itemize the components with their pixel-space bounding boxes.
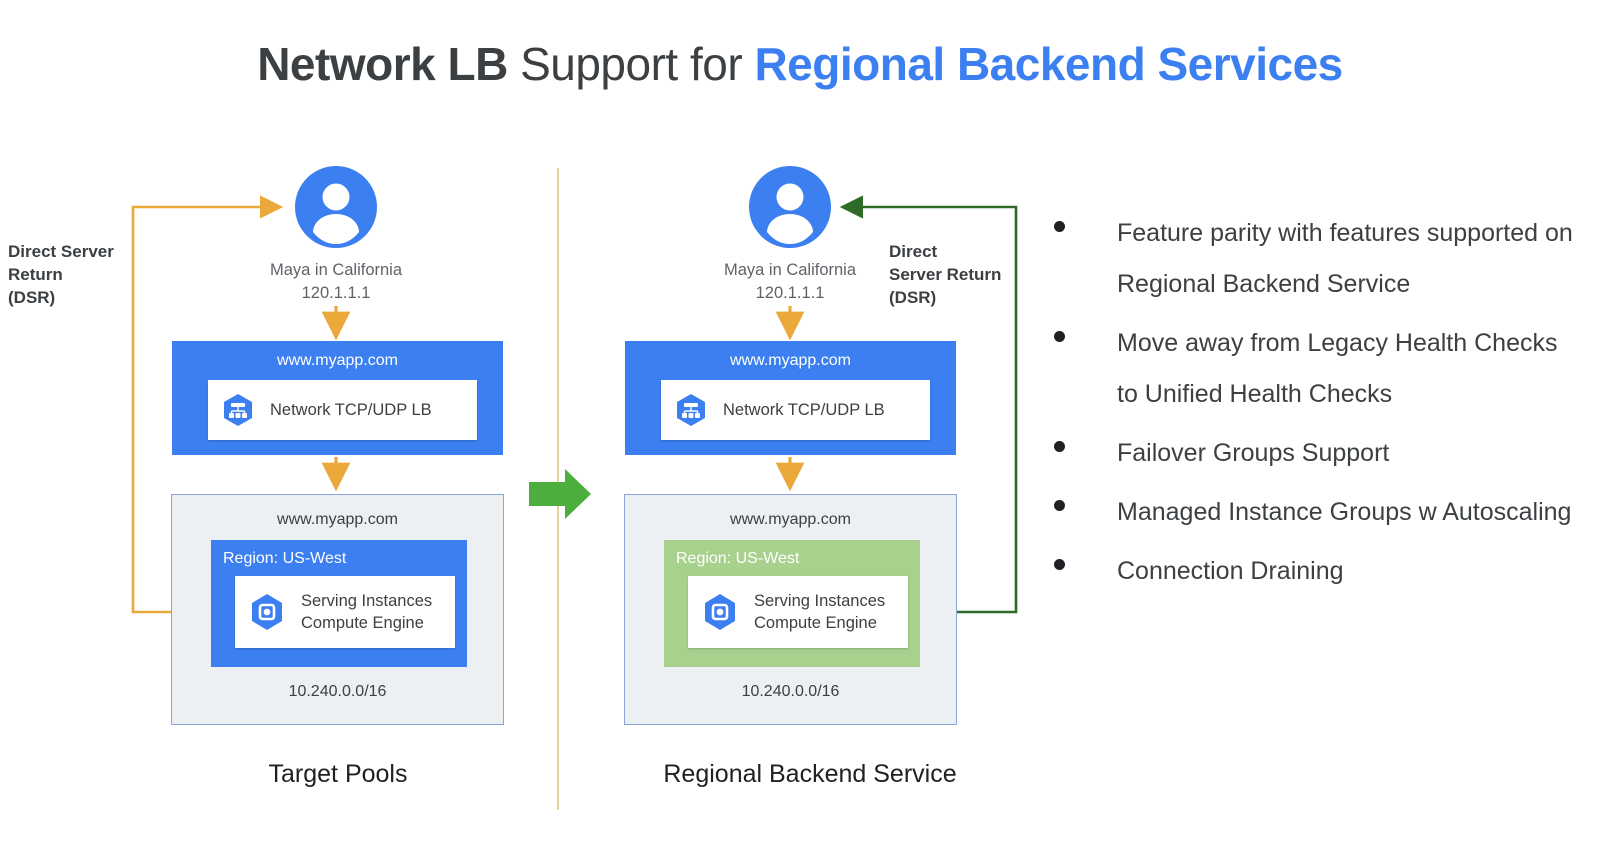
bullet-text: Connection Draining xyxy=(1117,546,1344,597)
right-instance-line-1: Serving Instances xyxy=(754,590,885,612)
right-user-to-lb-arrow xyxy=(774,306,808,344)
bullet-dot-icon xyxy=(1054,500,1065,511)
list-item: Connection Draining xyxy=(1040,546,1580,597)
right-lb-to-network-arrow xyxy=(774,457,808,495)
right-user-name: Maya in California xyxy=(640,259,940,282)
right-load-balancer-box[interactable]: www.myapp.com Network TCP/UDP LB xyxy=(625,341,956,455)
bullet-dot-icon xyxy=(1054,221,1065,232)
list-item: Failover Groups Support xyxy=(1040,428,1580,479)
right-region-box[interactable]: Region: US-West Serving Instances Comput… xyxy=(664,540,920,667)
network-load-balancer-icon xyxy=(671,390,711,430)
right-lb-card[interactable]: Network TCP/UDP LB xyxy=(661,380,930,440)
right-network-box[interactable]: www.myapp.com Region: US-West Serving In… xyxy=(624,494,957,725)
right-instance-line-2: Compute Engine xyxy=(754,612,885,634)
right-user-caption: Maya in California 120.1.1.1 xyxy=(640,259,940,305)
right-instance-label: Serving Instances Compute Engine xyxy=(754,590,885,634)
right-panel-caption: Regional Backend Service xyxy=(628,760,992,789)
right-network-cidr: 10.240.0.0/16 xyxy=(625,683,956,701)
right-user-ip: 120.1.1.1 xyxy=(640,282,940,305)
left-panel-caption: Target Pools xyxy=(156,760,520,789)
bullet-dot-icon xyxy=(1054,331,1065,342)
right-network-host: www.myapp.com xyxy=(625,509,956,531)
list-item: Feature parity with features supported o… xyxy=(1040,208,1580,310)
bullet-text: Feature parity with features supported o… xyxy=(1117,208,1580,310)
feature-bullet-list: Feature parity with features supported o… xyxy=(1040,208,1580,605)
right-user-avatar-icon xyxy=(749,166,831,248)
bullet-text: Failover Groups Support xyxy=(1117,428,1389,479)
bullet-text: Managed Instance Groups w Autoscaling xyxy=(1117,487,1571,538)
bullet-text: Move away from Legacy Health Checks to U… xyxy=(1117,318,1580,420)
bullet-dot-icon xyxy=(1054,441,1065,452)
right-instance-card[interactable]: Serving Instances Compute Engine xyxy=(688,576,908,648)
right-lb-label: Network TCP/UDP LB xyxy=(723,399,885,421)
list-item: Managed Instance Groups w Autoscaling xyxy=(1040,487,1580,538)
bullet-dot-icon xyxy=(1054,559,1065,570)
compute-engine-icon xyxy=(698,590,742,634)
right-region-label: Region: US-West xyxy=(676,548,920,570)
right-lb-host: www.myapp.com xyxy=(625,350,956,372)
list-item: Move away from Legacy Health Checks to U… xyxy=(1040,318,1580,420)
